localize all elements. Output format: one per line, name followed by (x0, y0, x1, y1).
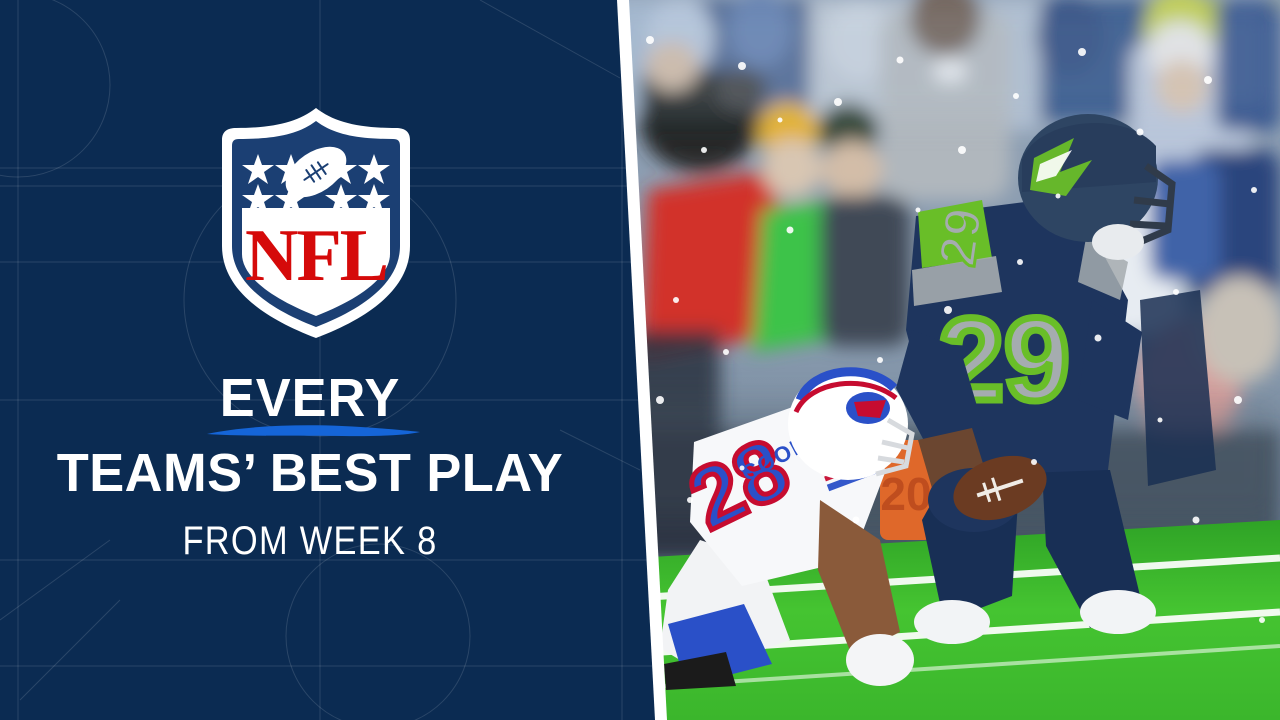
title-line-every: EVERY (220, 370, 400, 427)
title-line-best-play: TEAMS’ BEST PLAY (9, 445, 610, 502)
seahawks-shoulder-number: 29 (928, 204, 993, 269)
left-title-panel: NFL EVERY TEAMS’ BEST PLAY FROM WEEK 8 (0, 0, 668, 720)
title-block: EVERY TEAMS’ BEST PLAY FROM WEEK 8 (0, 370, 620, 564)
nfl-wordmark: NFL (245, 215, 387, 297)
subtitle-from-week: FROM WEEK 8 (43, 519, 576, 564)
svg-text:20: 20 (880, 468, 931, 520)
nfl-shield-logo: NFL (212, 104, 420, 342)
nfl-video-thumbnail: NFL EVERY TEAMS’ BEST PLAY FROM WEEK 8 (0, 0, 1280, 720)
